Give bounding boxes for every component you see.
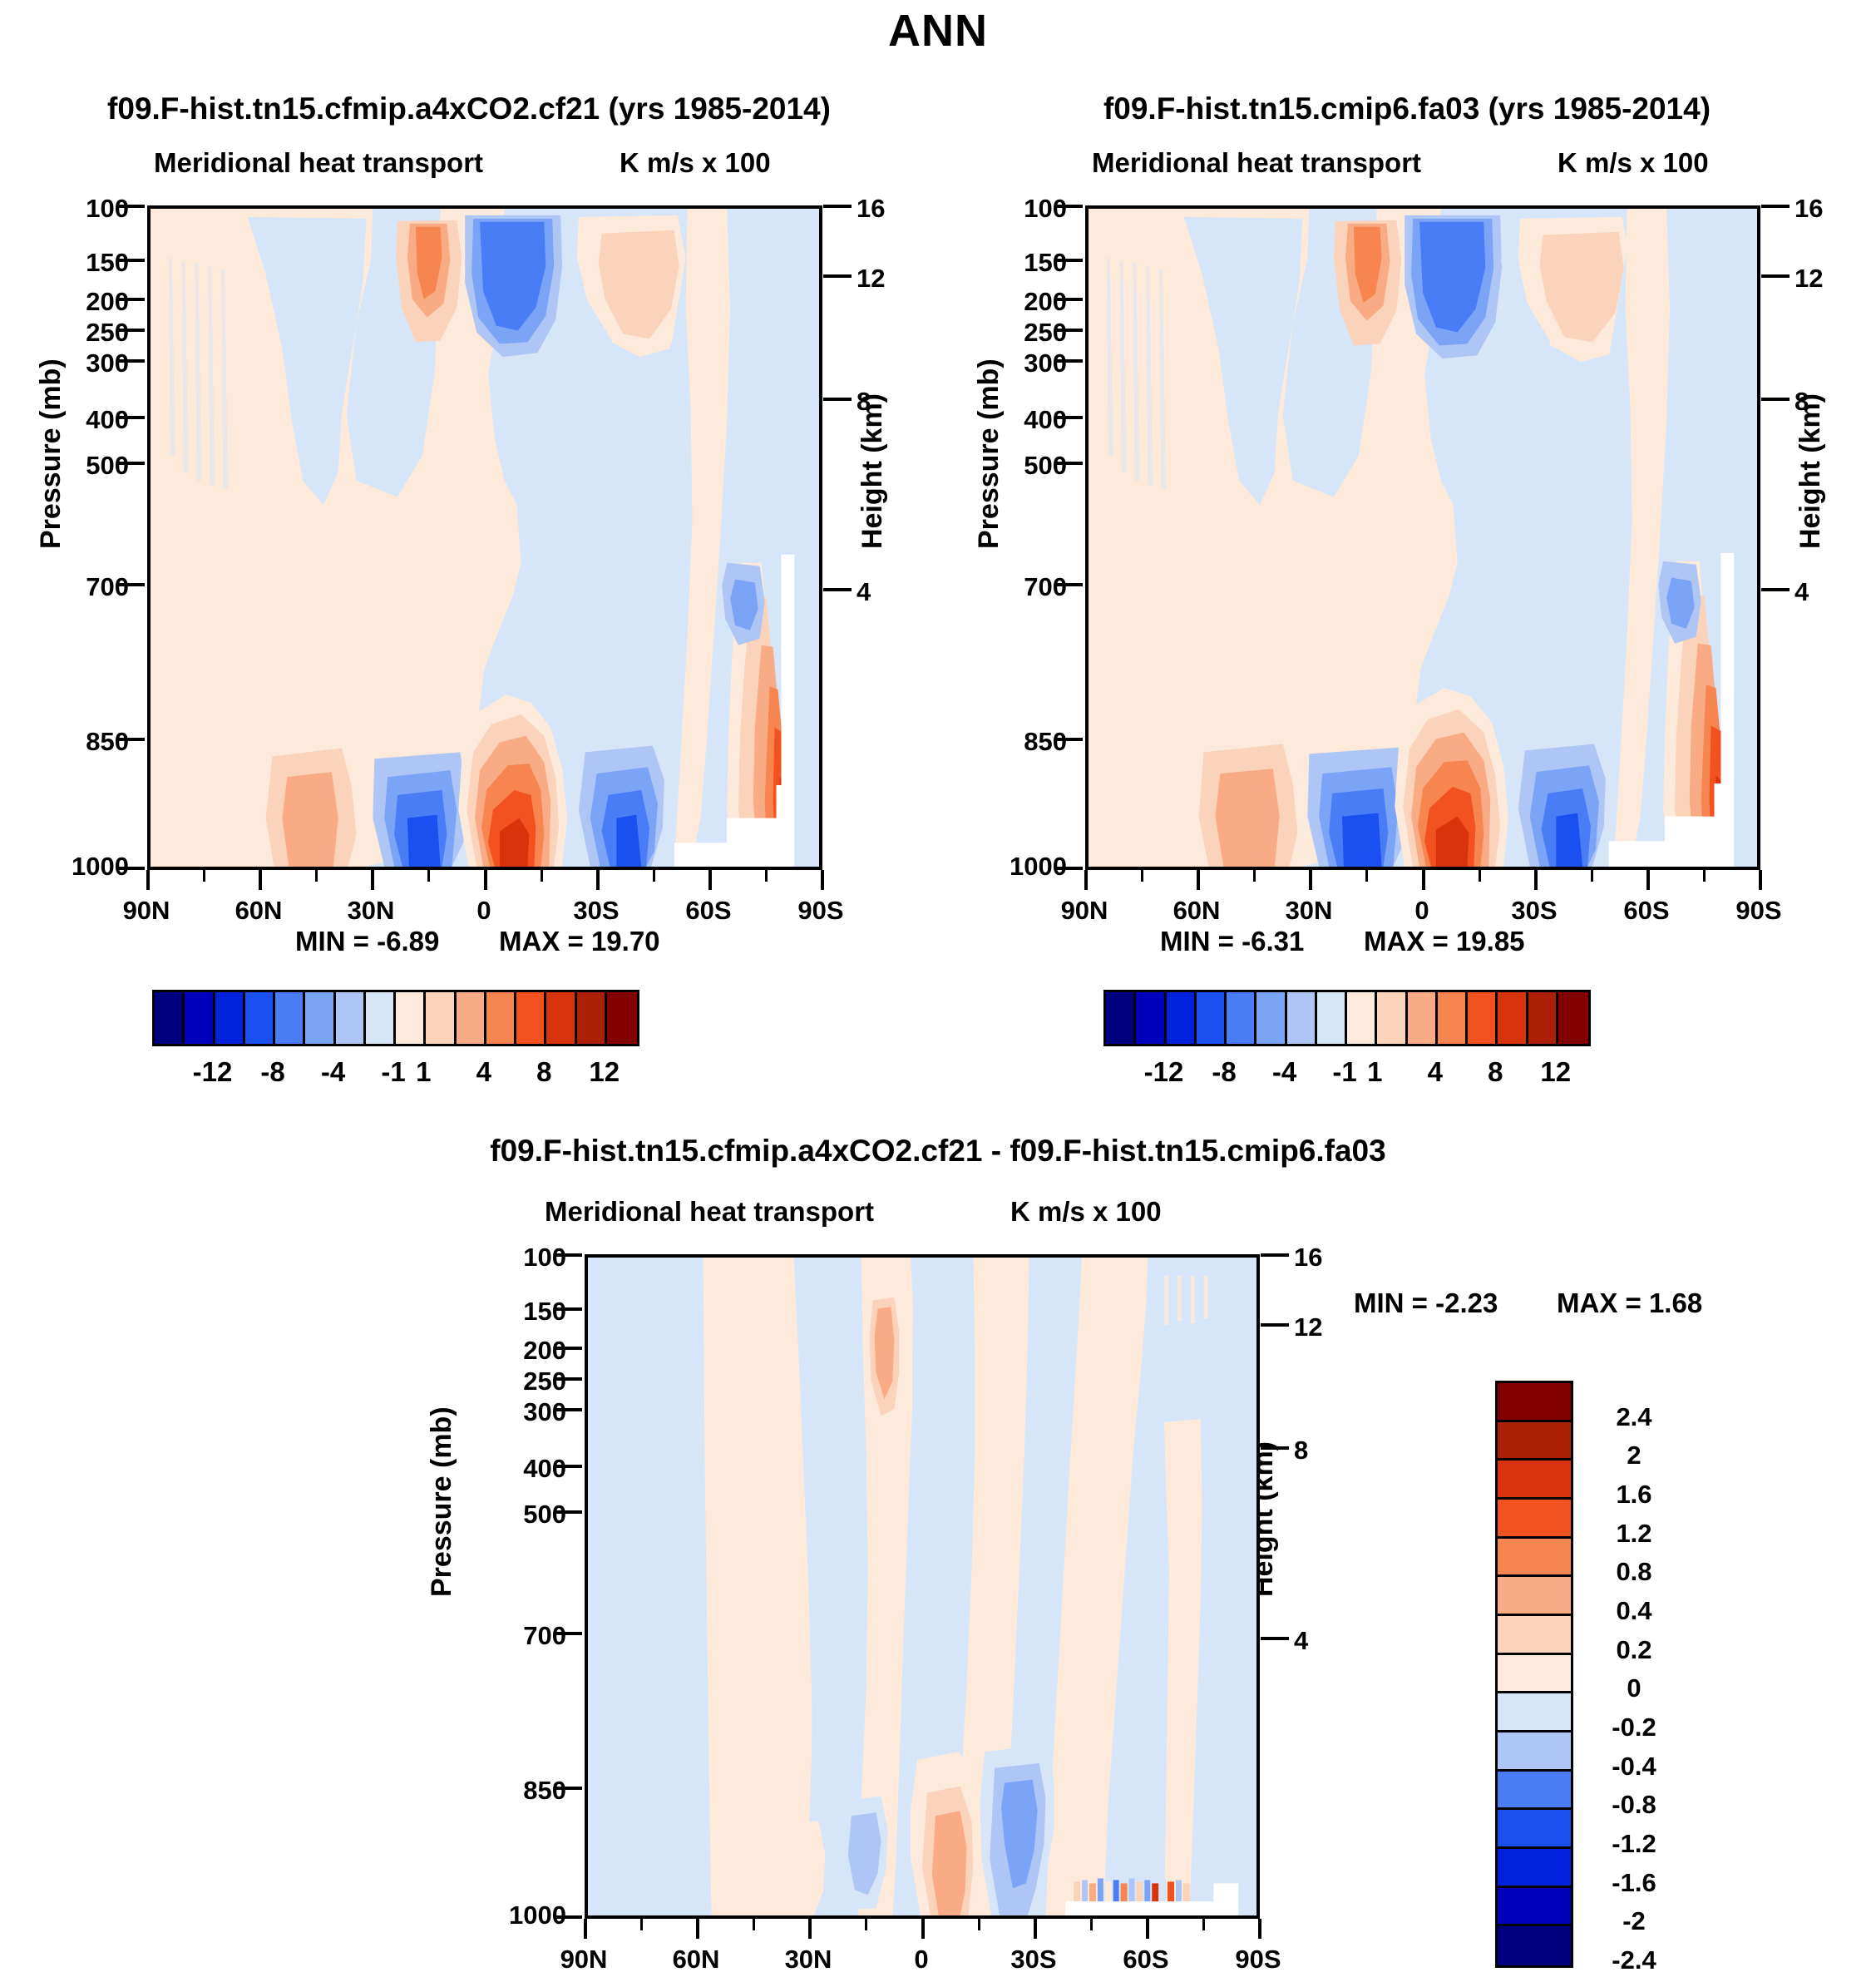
- main-title: ANN: [0, 5, 1876, 57]
- colorbar-tick-label: 0.2: [1580, 1635, 1688, 1665]
- y-axis-label-bottom: Pressure (mb): [426, 1406, 458, 1597]
- colorbar-tick-label: 0: [1580, 1673, 1688, 1703]
- variable-label-bottom: Meridional heat transport: [545, 1196, 874, 1228]
- panel-title-bottom: f09.F-hist.tn15.cfmip.a4xCO2.cf21 - f09.…: [231, 1134, 1645, 1169]
- units-label-top-left: K m/s x 100: [620, 147, 771, 179]
- colorbar-cell: [457, 992, 486, 1044]
- colorbar-cell: [1136, 992, 1166, 1044]
- colorbar-cell: [1287, 992, 1317, 1044]
- colorbar-cell: [1498, 1500, 1571, 1539]
- min-label-top-right: MIN = -6.31: [1160, 926, 1304, 957]
- variable-label-top-left: Meridional heat transport: [154, 147, 483, 179]
- colorbar-cell: [1498, 1888, 1571, 1927]
- colorbar-cell: [1498, 1732, 1571, 1772]
- colorbar-cell: [1317, 992, 1347, 1044]
- colorbar-tick-label: -0.2: [1580, 1713, 1688, 1742]
- panel-title-top-right: f09.F-hist.tn15.cmip6.fa03 (yrs 1985-201…: [938, 91, 1876, 126]
- colorbar-cell: [396, 992, 426, 1044]
- colorbar-cell: [245, 992, 275, 1044]
- max-label-top-right: MAX = 19.85: [1364, 926, 1525, 957]
- colorbar-cell: [1498, 1422, 1571, 1461]
- colorbar-cell: [1197, 992, 1227, 1044]
- colorbar-cell: [1498, 1849, 1571, 1888]
- colorbar-cell: [155, 992, 185, 1044]
- colorbar-cell: [1498, 1383, 1571, 1422]
- colorbar-top-left[interactable]: [152, 990, 639, 1046]
- colorbar-cell: [1227, 992, 1256, 1044]
- colorbar-tick-label: 1.2: [1580, 1519, 1688, 1549]
- colorbar-cell: [1498, 992, 1528, 1044]
- colorbar-tick-label: 1.6: [1580, 1480, 1688, 1510]
- colorbar-cell: [1498, 1577, 1571, 1616]
- contour-field-bottom: [588, 1258, 1256, 1915]
- colorbar-cell: [1377, 992, 1407, 1044]
- colorbar-top-right[interactable]: [1103, 990, 1591, 1046]
- colorbar-tick-label: 12: [1510, 1056, 1602, 1088]
- colorbar-cell: [1256, 992, 1286, 1044]
- colorbar-cell: [275, 992, 305, 1044]
- y2-axis-label-top-left: Height (km): [857, 393, 889, 549]
- colorbar-cell: [607, 992, 637, 1044]
- colorbar-tick-label: -0.4: [1580, 1752, 1688, 1782]
- min-label-top-left: MIN = -6.89: [295, 926, 439, 957]
- colorbar-cell: [1498, 1693, 1571, 1732]
- colorbar-tick-label: -2: [1580, 1906, 1688, 1936]
- colorbar-cell: [1498, 1616, 1571, 1655]
- min-label-bottom: MIN = -2.23: [1354, 1288, 1498, 1319]
- colorbar-cell: [577, 992, 607, 1044]
- colorbar-cell: [1347, 992, 1377, 1044]
- max-label-bottom: MAX = 1.68: [1557, 1288, 1702, 1319]
- colorbar-cell: [1106, 992, 1136, 1044]
- colorbar-cell: [1498, 1461, 1571, 1500]
- contour-field-top-left: [151, 209, 819, 867]
- colorbar-cell: [1498, 1772, 1571, 1811]
- colorbar-bottom-diff[interactable]: [1495, 1381, 1573, 1968]
- units-label-bottom: K m/s x 100: [1010, 1196, 1162, 1228]
- colorbar-cell: [336, 992, 366, 1044]
- colorbar-cell: [1558, 992, 1588, 1044]
- colorbar-cell: [215, 992, 245, 1044]
- colorbar-tick-label: 0.8: [1580, 1557, 1688, 1587]
- variable-label-top-right: Meridional heat transport: [1092, 147, 1421, 179]
- colorbar-cell: [305, 992, 335, 1044]
- contour-plot-top-right[interactable]: [1085, 205, 1760, 870]
- contour-field-top-right: [1089, 209, 1757, 867]
- colorbar-tick-label: 12: [559, 1056, 650, 1088]
- colorbar-cell: [516, 992, 546, 1044]
- contour-plot-top-left[interactable]: [147, 205, 822, 870]
- colorbar-cell: [185, 992, 215, 1044]
- colorbar-cell: [1498, 1655, 1571, 1694]
- colorbar-tick-label: -1.2: [1580, 1829, 1688, 1859]
- colorbar-cell: [1498, 1926, 1571, 1965]
- units-label-top-right: K m/s x 100: [1558, 147, 1709, 179]
- colorbar-cell: [1528, 992, 1558, 1044]
- colorbar-tick-label: 0.4: [1580, 1596, 1688, 1626]
- colorbar-cell: [426, 992, 456, 1044]
- colorbar-cell: [486, 992, 516, 1044]
- max-label-top-left: MAX = 19.70: [499, 926, 660, 957]
- colorbar-tick-label: -0.8: [1580, 1790, 1688, 1820]
- colorbar-tick-label: 2.4: [1580, 1402, 1688, 1432]
- colorbar-tick-label: -2.4: [1580, 1945, 1688, 1975]
- colorbar-cell: [1498, 1810, 1571, 1849]
- colorbar-tick-label: -1.6: [1580, 1868, 1688, 1898]
- colorbar-tick-label: 2: [1580, 1441, 1688, 1470]
- colorbar-cell: [1167, 992, 1197, 1044]
- colorbar-cell: [546, 992, 576, 1044]
- colorbar-cell: [1408, 992, 1438, 1044]
- colorbar-cell: [1438, 992, 1468, 1044]
- y2-axis-label-top-right: Height (km): [1795, 393, 1827, 549]
- panel-title-top-left: f09.F-hist.tn15.cfmip.a4xCO2.cf21 (yrs 1…: [0, 91, 938, 126]
- colorbar-cell: [1468, 992, 1498, 1044]
- colorbar-cell: [366, 992, 396, 1044]
- contour-plot-bottom[interactable]: [585, 1254, 1260, 1919]
- colorbar-cell: [1498, 1539, 1571, 1578]
